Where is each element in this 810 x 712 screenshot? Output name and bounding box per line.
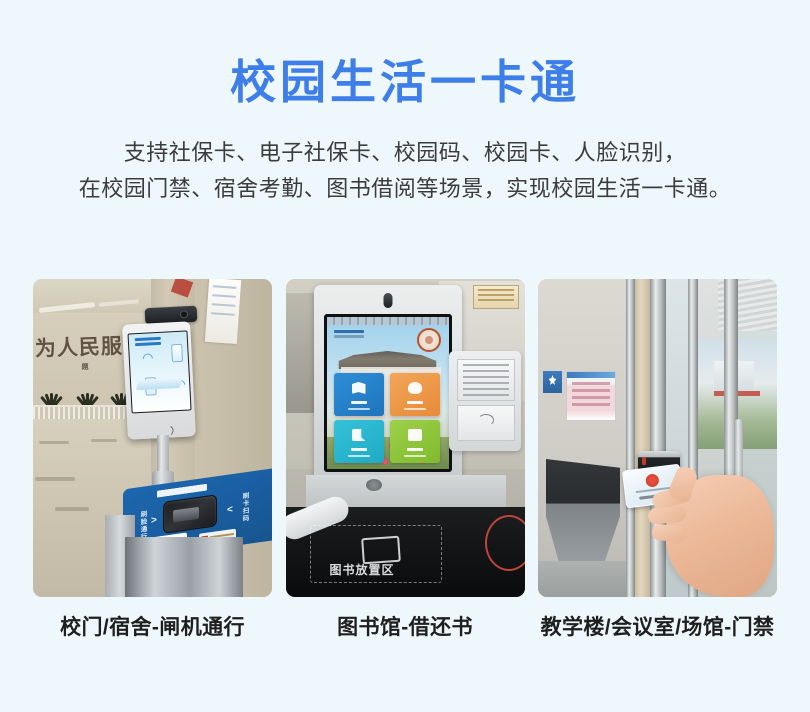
kiosk-tile-account[interactable] [390,420,440,463]
wall-notice-paper [205,279,241,344]
kiosk-tile-return[interactable] [390,373,440,416]
door-mullion [650,279,666,597]
instruction-label [457,359,515,401]
book-icon [361,536,401,565]
notice-poster [566,371,616,421]
nfc-wave-icon [478,414,494,426]
scenario-caption: 校门/宿舍-闸机通行 [33,611,272,641]
kiosk-tile-borrow[interactable] [334,373,384,416]
book-icon [352,382,366,394]
library-self-service-kiosk-photo: 图书放置区 [286,279,525,597]
campus-gate-turnstile-photo: 为人民服务题 [33,279,272,597]
kiosk-touchscreen[interactable] [324,314,452,472]
person-icon [549,375,557,385]
school-emblem-icon [417,328,441,352]
wall-sign [473,285,519,309]
door-frame-panel [635,279,650,597]
turnstile-brand-logo [157,484,207,498]
scenario-card-gate: 为人民服务题 [33,279,272,641]
hand-holding-card [666,475,774,597]
national-emblem-icon [645,473,659,487]
scenario-caption: 图书馆-借还书 [286,611,525,641]
scenario-caption: 教学楼/会议室/场馆-门禁 [538,611,777,641]
wall-mounted-reader-panel[interactable] [449,351,521,451]
screen-title-text [334,330,364,333]
subtitle-line-1: 支持社保卡、电子社保卡、校园码、校园卡、人脸识别， [0,135,810,171]
face-recognition-terminal[interactable] [122,321,196,439]
page-title: 校园生活一卡通 [0,56,810,109]
subtitle-line-2: 在校园门禁、宿舍考勤、图书借阅等场景，实现校园生活一卡通。 [0,171,810,207]
terminal-screen[interactable] [128,330,192,413]
hand-icon [408,382,422,394]
screen-top-banner [327,317,449,325]
wall-guide-sign [543,371,562,393]
kiosk-tile-search[interactable] [334,420,384,463]
page-root: 校园生活一卡通 支持社保卡、电子社保卡、校园码、校园卡、人脸识别， 在校园门禁、… [0,0,810,712]
scenario-card-row: 为人民服务题 [33,279,777,641]
scenario-card-library: 图书放置区 图书馆-借还书 [286,279,525,641]
header: 校园生活一卡通 支持社保卡、电子社保卡、校园码、校园卡、人脸识别， 在校园门禁、… [0,0,810,206]
search-icon [352,429,366,441]
terminal-screen-headline [135,337,161,341]
turnstile-body [125,537,243,597]
kiosk-head [314,285,462,481]
glass-door-access-control-photo [538,279,777,597]
kiosk-camera-icon [383,293,392,308]
card-icon [408,429,422,441]
desk-instruction-text: 图书放置区 [330,561,395,578]
qr-scanner-window[interactable] [163,494,217,534]
floor [538,561,634,597]
door-mullion [626,279,635,597]
card-reader-pad[interactable] [457,405,515,441]
kiosk-speaker-icon [366,479,382,491]
subtitle-block: 支持社保卡、电子社保卡、校园码、校园卡、人脸识别， 在校园门禁、宿舍考勤、图书借… [0,135,810,206]
scenario-card-door-access: 教学楼/会议室/场馆-门禁 [538,279,777,641]
